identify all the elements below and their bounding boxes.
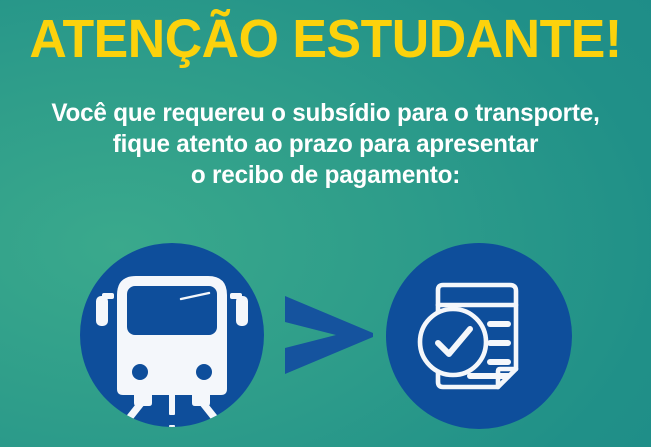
receipt-check-icon	[386, 243, 572, 429]
poster-canvas: ATENÇÃO ESTUDANTE! Você que requereu o s…	[0, 0, 651, 447]
chevron-right-icon	[281, 290, 376, 380]
subtitle-line-1: Você que requereu o subsídio para o tran…	[10, 98, 641, 129]
bus-icon-circle	[80, 243, 264, 427]
subtitle-line-2: fique atento ao prazo para apresentar	[10, 129, 641, 160]
bus-front-icon	[80, 243, 264, 427]
subtitle-line-3: o recibo de pagamento:	[10, 160, 641, 191]
subtitle-block: Você que requereu o subsídio para o tran…	[10, 98, 641, 191]
page-title: ATENÇÃO ESTUDANTE!	[13, 8, 638, 70]
document-icon-circle	[386, 243, 572, 429]
